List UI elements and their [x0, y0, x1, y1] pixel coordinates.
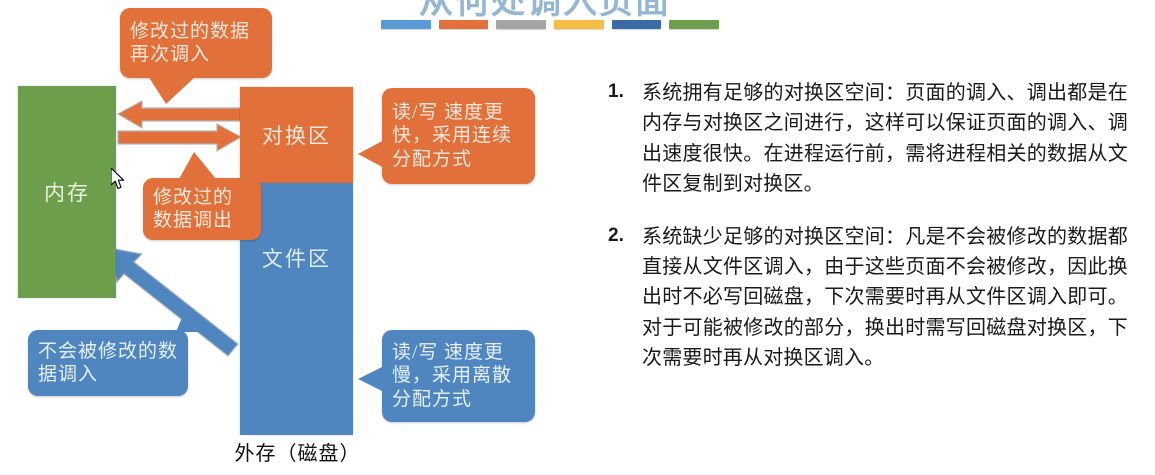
memory-box: 内存 — [18, 86, 116, 298]
callout-tail-icon — [179, 152, 216, 179]
callout-modified-reimport-text: 修改过的数据再次调入 — [130, 20, 262, 66]
callout-tail-icon — [358, 366, 384, 392]
note-number: 2. — [608, 222, 642, 251]
callout-unmodified-import: 不会被修改的数据调入 — [28, 330, 188, 396]
rule-bar-5 — [612, 20, 662, 29]
arrow-memory-to-swap — [118, 124, 241, 151]
swap-area-label: 对换区 — [262, 120, 331, 150]
rule-bar-1 — [381, 20, 431, 29]
callout-swap-speed-text: 读/写 速度更快，采用连续分配方式 — [392, 101, 525, 171]
callout-tail-icon — [176, 308, 214, 332]
note-number: 1. — [608, 78, 642, 107]
rule-bar-2 — [439, 20, 489, 29]
callout-tail-icon — [358, 140, 384, 168]
note-body: 系统拥有足够的对换区空间：页面的调入、调出都是在内存与对换区之间进行，这样可以保… — [642, 78, 1128, 200]
slide-canvas: 从何处调入页面 内存 对换区 文件区 外存（磁盘） 修改过的数据再次调入 修改过… — [0, 0, 1155, 475]
callout-file-speed: 读/写 速度更慢，采用离散分配方式 — [382, 330, 535, 422]
title-rule-bars — [381, 20, 719, 30]
note-item: 1. 系统拥有足够的对换区空间：页面的调入、调出都是在内存与对换区之间进行，这样… — [608, 78, 1128, 200]
callout-tail-icon — [148, 76, 196, 104]
callout-swap-speed: 读/写 速度更快，采用连续分配方式 — [382, 88, 535, 184]
callout-modified-export-text: 修改过的数据调出 — [153, 186, 251, 232]
rule-bar-3 — [496, 20, 546, 29]
mouse-cursor-icon — [111, 168, 127, 190]
swap-area-box: 对换区 — [240, 87, 353, 183]
memory-box-label: 内存 — [44, 177, 90, 207]
file-area-label: 文件区 — [262, 243, 331, 273]
rule-bar-4 — [554, 20, 604, 29]
callout-modified-reimport: 修改过的数据再次调入 — [120, 8, 272, 78]
callout-modified-export: 修改过的数据调出 — [143, 178, 261, 240]
note-item: 2. 系统缺少足够的对换区空间：凡是不会被修改的数据都直接从文件区调入，由于这些… — [608, 222, 1128, 374]
rule-bar-6 — [669, 20, 719, 29]
note-body: 系统缺少足够的对换区空间：凡是不会被修改的数据都直接从文件区调入，由于这些页面不… — [642, 222, 1128, 374]
callout-unmodified-import-text: 不会被修改的数据调入 — [38, 340, 178, 386]
arrow-swap-to-memory — [118, 101, 241, 128]
notes-panel: 1. 系统拥有足够的对换区空间：页面的调入、调出都是在内存与对换区之间进行，这样… — [608, 78, 1128, 396]
disk-caption: 外存（磁盘） — [215, 437, 380, 466]
callout-file-speed-text: 读/写 速度更慢，采用离散分配方式 — [392, 341, 525, 411]
